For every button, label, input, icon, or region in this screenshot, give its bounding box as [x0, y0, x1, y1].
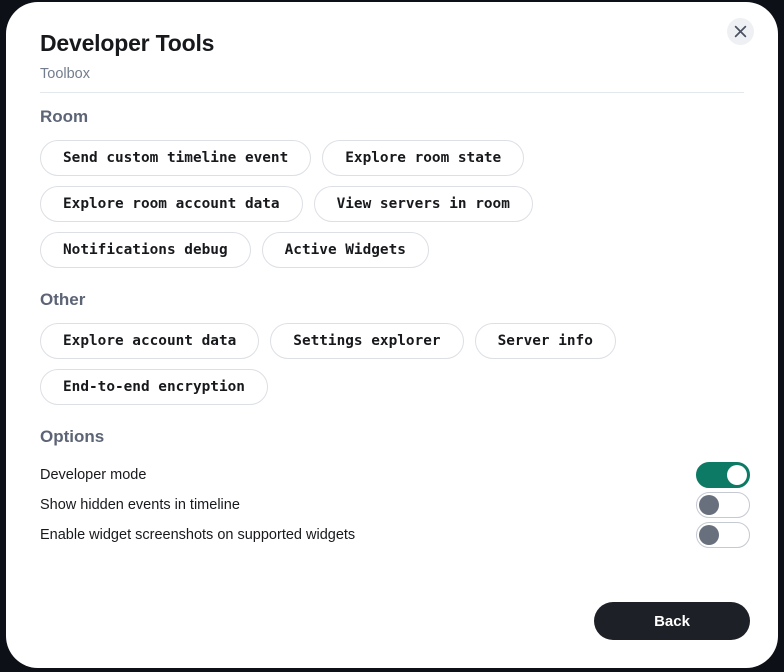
- section-room: Room Send custom timeline event Explore …: [40, 106, 750, 268]
- section-heading-options: Options: [40, 426, 750, 460]
- dialog-subtitle: Toolbox: [40, 58, 744, 93]
- tool-button-explore-room-state[interactable]: Explore room state: [322, 140, 524, 176]
- tool-button-explore-room-account-data[interactable]: Explore room account data: [40, 186, 303, 222]
- toggle-knob: [699, 495, 719, 515]
- tool-button-notifications-debug[interactable]: Notifications debug: [40, 232, 251, 268]
- page-title: Developer Tools: [40, 28, 744, 58]
- room-tool-buttons: Send custom timeline event Explore room …: [40, 140, 570, 268]
- toggle-widget-screenshots[interactable]: [696, 522, 750, 548]
- option-row-widget-screenshots: Enable widget screenshots on supported w…: [40, 520, 750, 550]
- toggle-knob: [699, 525, 719, 545]
- dialog-header: Developer Tools Toolbox: [40, 28, 744, 93]
- option-row-developer-mode: Developer mode: [40, 460, 750, 490]
- tool-button-settings-explorer[interactable]: Settings explorer: [270, 323, 463, 359]
- tool-button-server-info[interactable]: Server info: [475, 323, 616, 359]
- dialog-body: Room Send custom timeline event Explore …: [40, 106, 750, 550]
- section-options: Options Developer mode Show hidden event…: [40, 405, 750, 550]
- section-other: Other Explore account data Settings expl…: [40, 268, 750, 405]
- section-heading-other: Other: [40, 289, 750, 323]
- tool-button-view-servers-in-room[interactable]: View servers in room: [314, 186, 533, 222]
- option-row-show-hidden-events: Show hidden events in timeline: [40, 490, 750, 520]
- option-label-widget-screenshots: Enable widget screenshots on supported w…: [40, 525, 355, 545]
- back-button[interactable]: Back: [594, 602, 750, 640]
- toggle-developer-mode[interactable]: [696, 462, 750, 488]
- toggle-show-hidden-events[interactable]: [696, 492, 750, 518]
- toggle-knob: [727, 465, 747, 485]
- tool-button-explore-account-data[interactable]: Explore account data: [40, 323, 259, 359]
- other-tool-buttons: Explore account data Settings explorer S…: [40, 323, 640, 405]
- tool-button-active-widgets[interactable]: Active Widgets: [262, 232, 429, 268]
- dialog-footer: Back: [40, 602, 750, 640]
- tool-button-send-custom-timeline-event[interactable]: Send custom timeline event: [40, 140, 311, 176]
- developer-tools-dialog: Developer Tools Toolbox Room Send custom…: [6, 2, 778, 668]
- tool-button-end-to-end-encryption[interactable]: End-to-end encryption: [40, 369, 268, 405]
- option-label-show-hidden-events: Show hidden events in timeline: [40, 495, 240, 515]
- section-heading-room: Room: [40, 106, 750, 140]
- option-label-developer-mode: Developer mode: [40, 465, 146, 485]
